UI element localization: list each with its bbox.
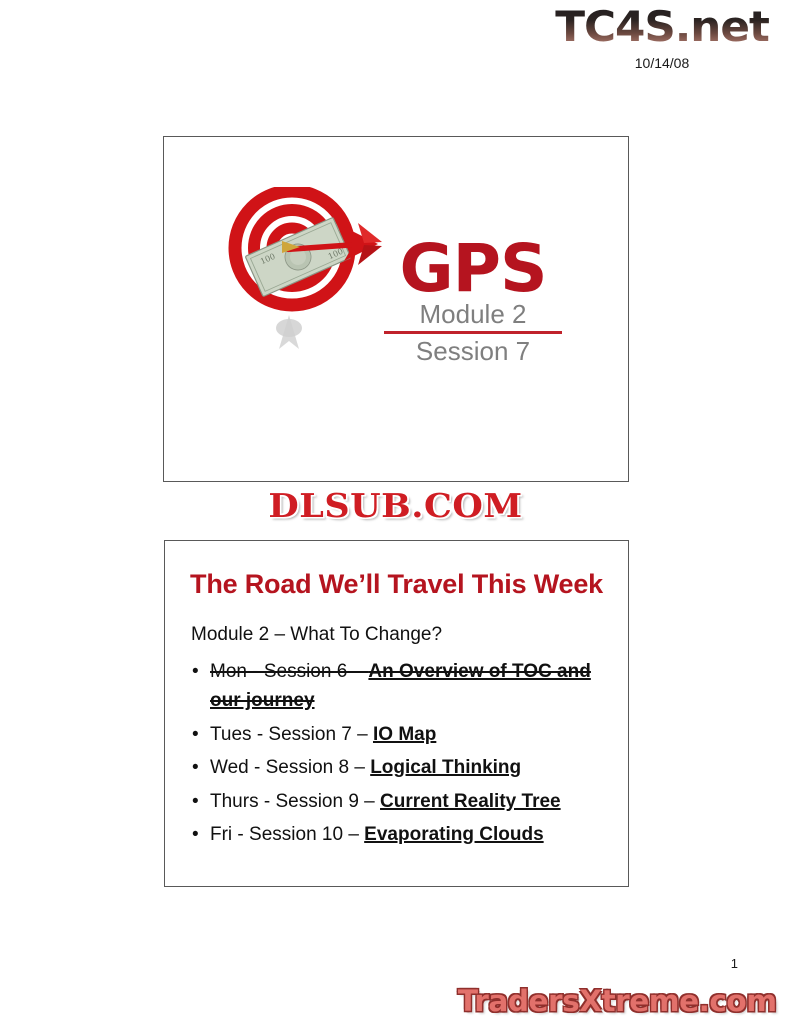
slide-agenda: The Road We’ll Travel This Week Module 2… bbox=[164, 540, 629, 887]
list-item: •Tues - Session 7 – IO Map bbox=[186, 720, 610, 749]
list-item-lead: Fri - Session 10 – bbox=[210, 824, 364, 845]
agenda-subtitle: Module 2 – What To Change? bbox=[191, 624, 442, 646]
gps-text-stack: GPS Module 2 Session 7 bbox=[384, 239, 562, 367]
list-item-emphasis: Evaporating Clouds bbox=[364, 824, 543, 845]
list-item-emphasis: Current Reality Tree bbox=[380, 791, 561, 812]
bullet-icon: • bbox=[192, 753, 199, 782]
list-item: •Wed - Session 8 – Logical Thinking bbox=[186, 753, 610, 782]
list-item: •Thurs - Session 9 – Current Reality Tre… bbox=[186, 787, 610, 816]
slide-title-page: 100 100 GPS Module 2 Session 7 bbox=[163, 136, 629, 482]
list-item-lead: Wed - Session 8 – bbox=[210, 757, 370, 778]
list-item-emphasis: Logical Thinking bbox=[370, 757, 521, 778]
list-item-emphasis: IO Map bbox=[373, 724, 436, 745]
bullet-icon: • bbox=[192, 657, 199, 686]
gps-session-label: Session 7 bbox=[384, 334, 562, 367]
bullet-icon: • bbox=[192, 787, 199, 816]
list-item-lead: Thurs - Session 9 – bbox=[210, 791, 380, 812]
list-item-lead: Tues - Session 7 – bbox=[210, 724, 373, 745]
list-item-lead: Mon - Session 6 – bbox=[210, 661, 368, 682]
page-header: TC4S.net 10/14/08 bbox=[547, 0, 777, 71]
target-icon: 100 100 bbox=[226, 187, 386, 357]
gps-wordmark: GPS bbox=[384, 239, 562, 300]
list-item: •Fri - Session 10 – Evaporating Clouds bbox=[186, 820, 610, 849]
dlsub-watermark: DLSUB.COM bbox=[0, 486, 791, 525]
tradersxtreme-brand-wordmark: TradersXtreme.com bbox=[457, 984, 776, 1018]
bullet-icon: • bbox=[192, 720, 199, 749]
header-date: 10/14/08 bbox=[547, 55, 777, 71]
bullet-icon: • bbox=[192, 820, 199, 849]
agenda-title: The Road We’ll Travel This Week bbox=[165, 569, 628, 600]
list-item: •Mon - Session 6 – An Overview of TOC an… bbox=[186, 657, 610, 716]
agenda-list: •Mon - Session 6 – An Overview of TOC an… bbox=[186, 657, 610, 854]
tc4s-brand-wordmark: TC4S.net bbox=[542, 6, 781, 48]
page-number: 1 bbox=[731, 956, 738, 971]
gps-logo: 100 100 GPS Module 2 Session 7 bbox=[226, 187, 566, 432]
